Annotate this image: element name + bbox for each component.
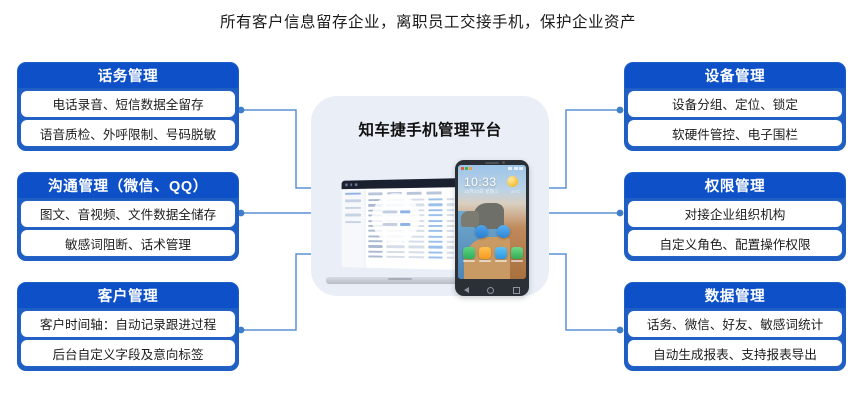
topbar-dot-icon: [350, 184, 352, 186]
card-title: 话务管理: [18, 63, 238, 88]
laptop-screen: [342, 178, 468, 270]
back-triangle-icon[interactable]: [464, 287, 469, 293]
weather-temperature: 26℃: [511, 189, 520, 194]
diagram-canvas: 所有客户信息留存企业，离职员工交接手机，保护企业资产: [0, 0, 856, 400]
card-title: 权限管理: [625, 173, 845, 198]
card-title: 沟通管理（微信、QQ）: [18, 173, 238, 198]
feature-card-shebei[interactable]: 设备管理 设备分组、定位、锁定 软硬件管控、电子围栏: [624, 62, 846, 151]
phone-camera-icon: [502, 161, 505, 164]
connector-dot-right-1: [617, 107, 624, 114]
card-row: 语音质检、外呼限制、号码脱敏: [20, 119, 236, 147]
dashboard-sidebar: [342, 189, 366, 268]
card-row: 客户时间轴：自动记录跟进过程: [20, 310, 236, 338]
card-row: 后台自定义字段及意向标签: [20, 339, 236, 367]
phone-speaker-icon: [485, 162, 499, 164]
card-title: 客户管理: [18, 283, 238, 308]
card-row: 设备分组、定位、锁定: [627, 90, 843, 118]
recents-square-icon[interactable]: [513, 287, 520, 294]
hub-title: 知车捷手机管理平台: [311, 118, 549, 140]
card-row: 自定义角色、配置操作权限: [627, 229, 843, 257]
app-icon-security[interactable]: [475, 225, 488, 238]
card-row: 电话录音、短信数据全留存: [20, 90, 236, 118]
feature-card-kehu[interactable]: 客户管理 客户时间轴：自动记录跟进过程 后台自定义字段及意向标签: [17, 282, 239, 371]
topbar-dot-icon: [345, 184, 347, 186]
card-row: 软硬件管控、电子围栏: [627, 119, 843, 147]
card-row: 图文、音视频、文件数据全储存: [20, 200, 236, 228]
magnifier-highlight: [372, 193, 420, 244]
phone-navigation-bar: [455, 287, 529, 294]
phone-dock: [463, 247, 523, 259]
managed-phone: 10:33 10月23日 星期三 26℃: [455, 160, 529, 296]
card-row: 自动生成报表、支持报表导出: [627, 339, 843, 367]
table-row: [368, 250, 465, 253]
table-row: [368, 256, 465, 260]
phone-clock: 10:33: [464, 175, 497, 189]
phone-status-bar: [458, 165, 526, 172]
weather-sun-icon: [507, 176, 518, 187]
app-icon-info[interactable]: [497, 225, 510, 238]
feature-card-goutong[interactable]: 沟通管理（微信、QQ） 图文、音视频、文件数据全储存 敏感词阻断、话术管理: [17, 172, 239, 261]
connector-dot-right-2: [617, 210, 624, 217]
status-signal-battery-icons: [508, 167, 523, 170]
card-title: 数据管理: [625, 283, 845, 308]
laptop-notch: [388, 278, 412, 281]
dashboard-table-header: [368, 191, 465, 195]
table-row: [368, 240, 465, 243]
feature-card-quanxian[interactable]: 权限管理 对接企业组织机构 自定义角色、配置操作权限: [624, 172, 846, 261]
phone-widget-row: [475, 225, 510, 238]
card-row: 话务、微信、好友、敏感词统计: [627, 310, 843, 338]
card-row: 对接企业组织机构: [627, 200, 843, 228]
card-title: 设备管理: [625, 63, 845, 88]
phone-dock-labels: [463, 260, 523, 262]
phone-date: 10月23日 星期三: [464, 189, 499, 195]
app-icon-messages[interactable]: [479, 247, 491, 259]
phone-screen: 10:33 10月23日 星期三 26℃: [458, 165, 526, 279]
feature-card-huawu[interactable]: 话务管理 电话录音、短信数据全留存 语音质检、外呼限制、号码脱敏: [17, 62, 239, 151]
page-title: 所有客户信息留存企业，离职员工交接手机，保护企业资产: [0, 10, 856, 32]
home-circle-icon[interactable]: [487, 287, 494, 294]
feature-card-shuju[interactable]: 数据管理 话务、微信、好友、敏感词统计 自动生成报表、支持报表导出: [624, 282, 846, 371]
table-row: [368, 245, 465, 248]
topbar-dot-icon: [355, 183, 357, 185]
card-row: 敏感词阻断、话术管理: [20, 229, 236, 257]
app-icon-wechat[interactable]: [511, 247, 523, 259]
connector-dot-right-3: [617, 327, 624, 334]
app-icon-phone[interactable]: [463, 247, 475, 259]
status-notification-icons: [461, 167, 472, 170]
app-icon-browser[interactable]: [495, 247, 507, 259]
management-dashboard-laptop: [326, 178, 474, 284]
